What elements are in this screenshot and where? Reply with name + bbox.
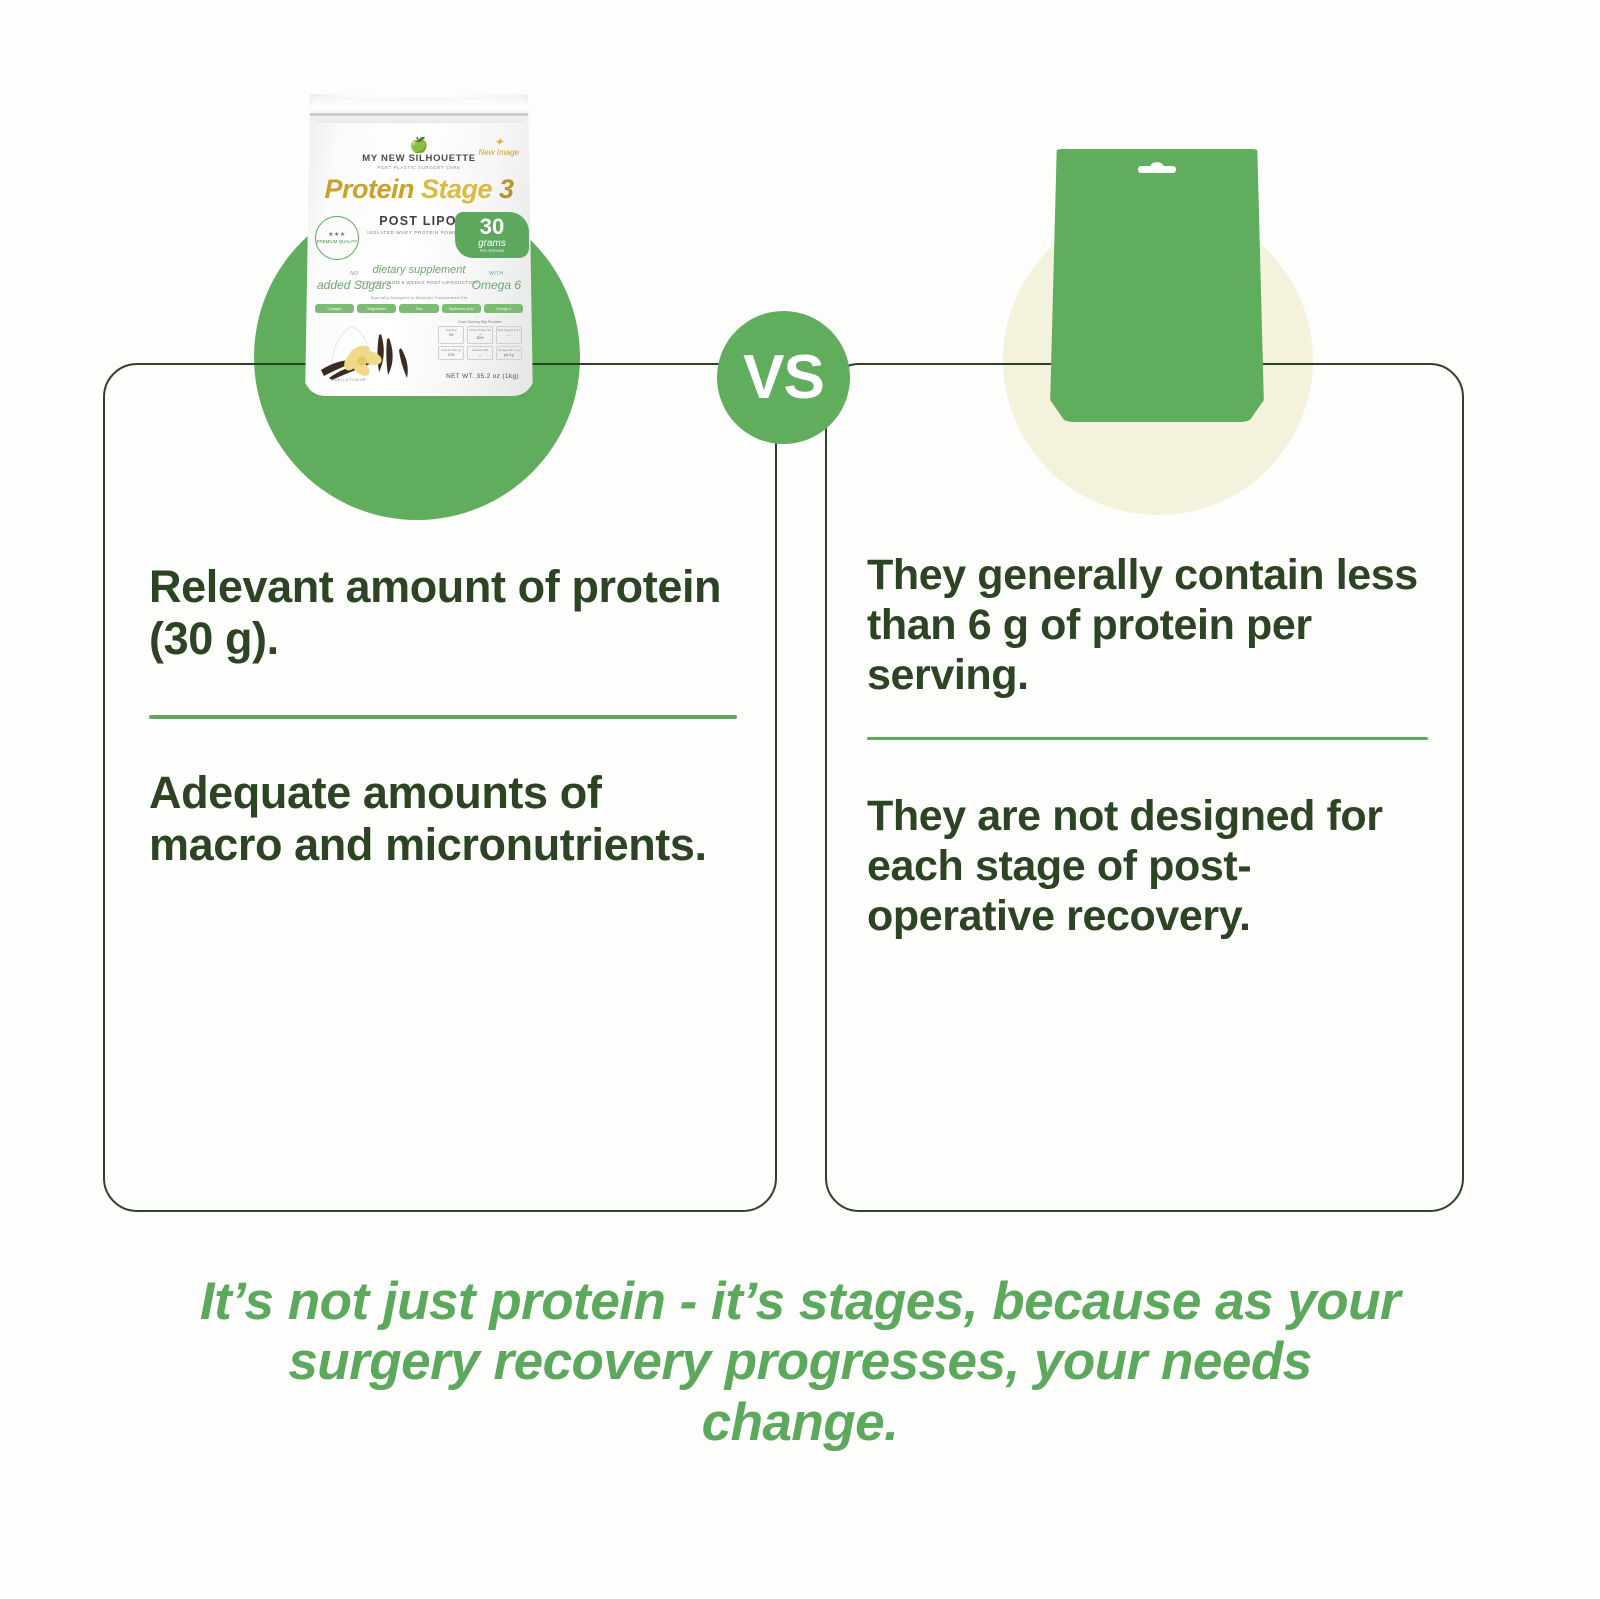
- nutrition-cell-value: —: [468, 353, 491, 357]
- product-title: Protein Stage 3: [303, 176, 535, 203]
- tagline: It’s not just protein - it’s stages, bec…: [190, 1272, 1410, 1453]
- nutrition-cell: Total Fat 3%: [438, 326, 464, 344]
- comparison-card-left: Relevant amount of protein (30 g). Adequ…: [103, 363, 777, 1212]
- benefit-pill: Omega 3: [484, 304, 523, 313]
- nutrition-title: Each Serving 50g Provides: [438, 320, 522, 324]
- benefit-pill: Collagen: [315, 304, 354, 313]
- benefit-pill: Hyaluronic Acid: [442, 304, 481, 313]
- nutrition-cell: Whey Protein 30 g 60%: [467, 326, 493, 344]
- claim-right-big: Omega 6: [472, 278, 521, 292]
- sparkle-icon: ✦: [494, 135, 504, 149]
- vs-badge: VS: [717, 311, 850, 444]
- right-statement-2: They are not designed for each stage of …: [867, 792, 1428, 942]
- premium-quality-badge: ★★★ PREMIUM QUALITY: [315, 216, 359, 260]
- product-title-word2: Stage: [421, 174, 492, 204]
- nutrition-cell: Calories 181 —: [467, 346, 493, 360]
- nutrition-cell: Total Sugars 1.5 g —: [496, 326, 522, 344]
- no-added-sugars-claim: NO added Sugars: [317, 272, 392, 293]
- nutrition-cell-value: —: [497, 333, 520, 337]
- claim-left-small: NO: [317, 272, 392, 277]
- new-image-badge: ✦ New Image: [479, 136, 519, 157]
- left-statement-2: Adequate amounts of macro and micronutri…: [149, 767, 737, 871]
- net-weight-label: NET WT. 35.2 oz (1kg): [446, 373, 519, 380]
- nutrition-cell-label: Whey Protein 30 g: [468, 329, 491, 336]
- left-card-divider: [149, 715, 737, 718]
- vs-badge-label: VS: [743, 342, 824, 413]
- product-title-word1: Protein: [324, 174, 414, 204]
- grams-value: 30: [480, 216, 504, 238]
- stars-icon: ★★★: [328, 232, 346, 239]
- right-card-divider: [867, 737, 1428, 740]
- grams-note: PER SERVING: [480, 250, 505, 254]
- nutrition-cell-value: p6.4 g: [497, 353, 520, 357]
- claim-right-small: WITH: [472, 272, 521, 277]
- vanilla-flower-illustration: [315, 318, 421, 384]
- pouch-zipper-seal: [310, 97, 528, 123]
- benefit-pill-row: Collagen Magnesium Zinc Hyaluronic Acid …: [315, 304, 523, 313]
- hang-hole-notch-icon: [1138, 166, 1176, 173]
- claim-left-big: added Sugars: [317, 278, 392, 292]
- nutrition-cell: Omega 6/3 1.4 g p6.4 g: [496, 346, 522, 360]
- nutrition-facts-grid: Each Serving 50g Provides Total Fat 3% W…: [438, 320, 522, 360]
- grams-highlight-badge: 30 grams PER SERVING: [455, 212, 529, 258]
- nutrition-cell: Sodium 220 mg 10%: [438, 346, 464, 360]
- comparison-card-right: They generally contain less than 6 g of …: [825, 363, 1464, 1212]
- infographic-canvas: 🍏 MY NEW SILHOUETTE POST PLASTIC SURGERY…: [0, 0, 1600, 1599]
- flavor-caption: VANILLA FLAVOR: [331, 378, 366, 382]
- benefit-pill: Magnesium: [357, 304, 396, 313]
- omega-claim: WITH Omega 6: [472, 272, 521, 293]
- grams-unit: grams: [478, 239, 506, 249]
- designed-note-label: Specially Designed to Maintain Transform…: [303, 295, 535, 300]
- generic-pouch-body: [1048, 149, 1266, 422]
- new-image-label: New Image: [479, 149, 519, 157]
- premium-badge-label: PREMIUM QUALITY: [317, 239, 358, 244]
- nutrition-cell-value: 3%: [440, 333, 463, 337]
- nutrition-cell-value: 60%: [468, 336, 491, 340]
- nutrition-cell-value: 10%: [440, 353, 463, 357]
- product-pouch-image: 🍏 MY NEW SILHOUETTE POST PLASTIC SURGERY…: [303, 88, 535, 396]
- benefit-pill: Zinc: [399, 304, 438, 313]
- right-statement-1: They generally contain less than 6 g of …: [867, 551, 1428, 701]
- product-title-word3: 3: [499, 174, 514, 204]
- brand-tagline: POST PLASTIC SURGERY CARE: [303, 165, 535, 170]
- generic-pouch-image: [1048, 149, 1266, 422]
- left-statement-1: Relevant amount of protein (30 g).: [149, 561, 737, 665]
